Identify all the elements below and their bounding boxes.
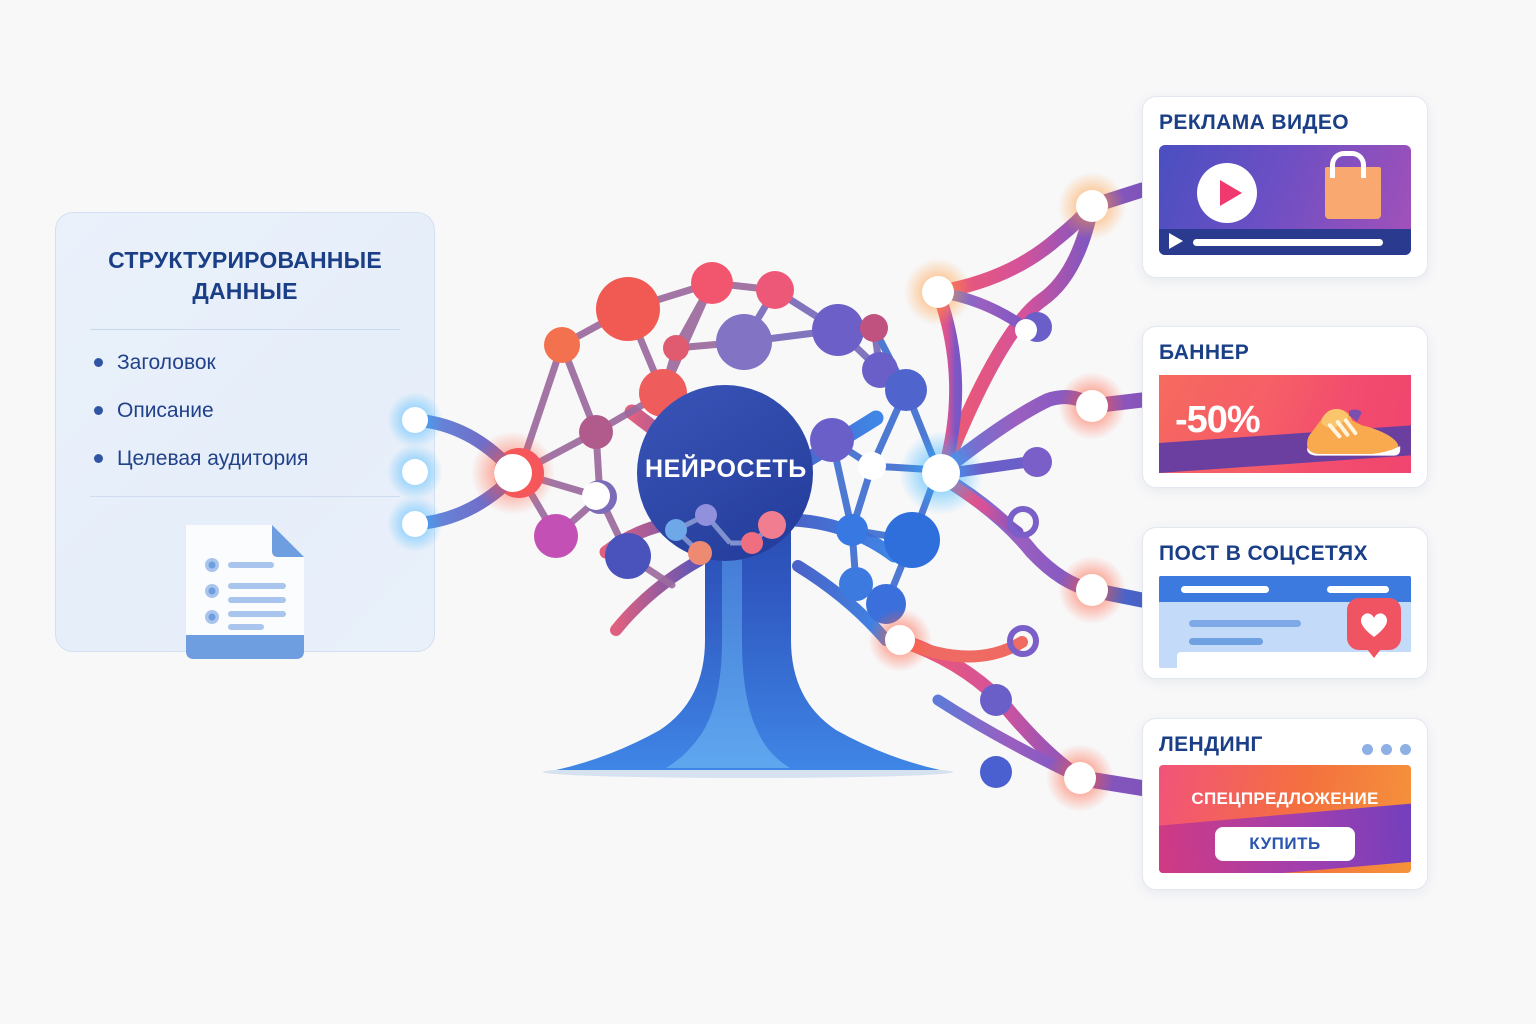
landing-page-icon: СПЕЦПРЕДЛОЖЕНИЕ КУПИТЬ <box>1159 765 1411 873</box>
banner-icon: -50% <box>1159 375 1411 473</box>
discount-label: -50% <box>1175 399 1260 442</box>
social-post-icon <box>1159 576 1411 668</box>
post-text-line <box>1189 620 1301 627</box>
output-hub-node[interactable] <box>899 431 983 515</box>
play-triangle-icon <box>1220 180 1242 206</box>
heart-like-icon[interactable] <box>1347 598 1401 650</box>
input-hub-node[interactable] <box>471 431 555 515</box>
post-header-pill <box>1327 586 1389 593</box>
video-progress-bar[interactable] <box>1193 239 1383 246</box>
post-text-line <box>1189 638 1263 645</box>
window-dot-icon <box>1362 744 1373 755</box>
input-nodes[interactable] <box>387 392 443 552</box>
landing-title-row: ЛЕНДИНГ <box>1159 733 1411 765</box>
shopping-bag-handle-icon <box>1330 151 1366 178</box>
output-card-video[interactable]: РЕКЛАМА ВИДЕО <box>1142 96 1428 278</box>
video-player-icon <box>1159 145 1411 255</box>
offer-label: СПЕЦПРЕДЛОЖЕНИЕ <box>1159 789 1411 809</box>
output-card-banner[interactable]: БАННЕР -50% <box>1142 326 1428 488</box>
window-dots <box>1362 744 1411 755</box>
heart-glyph <box>1359 611 1389 638</box>
play-button-icon[interactable] <box>1197 163 1257 223</box>
infographic-canvas: СТРУКТУРИРОВАННЫЕ ДАННЫЕ Заголовок Описа… <box>0 0 1536 1024</box>
card-title: РЕКЛАМА ВИДЕО <box>1159 111 1411 135</box>
output-card-landing[interactable]: ЛЕНДИНГ СПЕЦПРЕДЛОЖЕНИЕ КУПИТЬ <box>1142 718 1428 890</box>
window-dot-icon <box>1400 744 1411 755</box>
card-title: ПОСТ В СОЦСЕТЯХ <box>1159 542 1411 566</box>
card-title: ЛЕНДИНГ <box>1159 733 1263 757</box>
video-play-small-icon <box>1169 233 1183 249</box>
post-header-pill <box>1181 586 1269 593</box>
sneaker-icon <box>1293 401 1405 459</box>
buy-button[interactable]: КУПИТЬ <box>1215 827 1355 861</box>
card-title: БАННЕР <box>1159 341 1411 365</box>
output-card-social[interactable]: ПОСТ В СОЦСЕТЯХ <box>1142 527 1428 679</box>
video-control-bar[interactable] <box>1159 229 1411 255</box>
window-dot-icon <box>1381 744 1392 755</box>
